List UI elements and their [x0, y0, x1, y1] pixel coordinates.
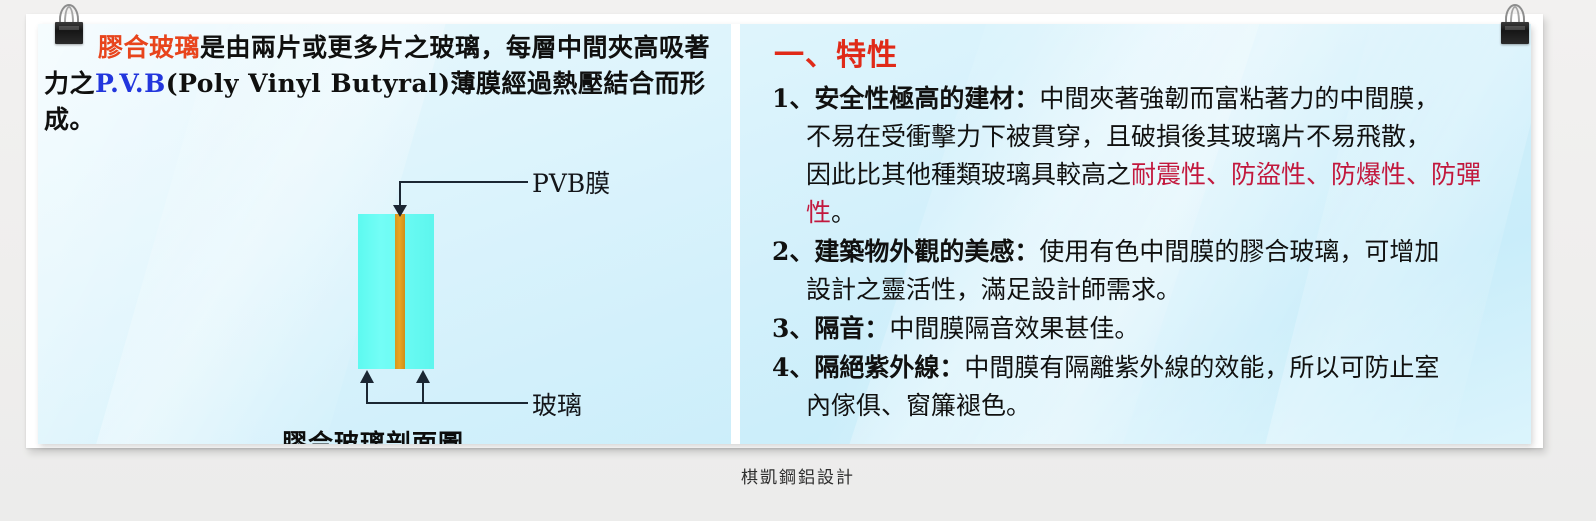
slide-content-area: 膠合玻璃是由兩片或更多片之玻璃，每層中間夾高吸著力之P.V.B(Poly Vin… — [38, 24, 1531, 444]
list-item: 1、安全性極高的建材：中間夾著強韌而富粘著力的中間膜， 不易在受衝擊力下被貫穿，… — [772, 80, 1524, 232]
column-divider — [731, 24, 740, 444]
item-1-body-a: 中間夾著強韌而富粘著力的中間膜， — [1039, 84, 1439, 113]
clip-body — [55, 22, 83, 44]
item-2-lead: 建築物外觀的美感： — [814, 237, 1039, 266]
binder-clip-left-icon — [52, 4, 86, 46]
item-1-number: 1、 — [772, 84, 814, 113]
glass-leader-vertical-left — [366, 382, 368, 404]
item-4-body-b: 內傢俱、窗簾褪色。 — [772, 387, 1524, 425]
laminated-glass-cross-section-diagram: PVB膜 玻璃 膠合玻璃剖面圖 — [38, 134, 731, 444]
item-1-body-b: 不易在受衝擊力下被貫穿，且破損後其玻璃片不易飛散， — [772, 118, 1524, 156]
item-4-number: 4、 — [772, 353, 814, 382]
clip-body — [1501, 22, 1529, 44]
item-3-number: 3、 — [772, 314, 814, 343]
list-item: 4、隔絕紫外線：中間膜有隔離紫外線的效能，所以可防止室 內傢俱、窗簾褪色。 — [772, 349, 1524, 425]
binder-clip-right-icon — [1498, 4, 1532, 46]
item-1-body-c: 因此比其他種類玻璃具較高之 — [806, 160, 1131, 189]
pvb-interlayer-band — [395, 214, 405, 369]
item-4-body-a: 中間膜有隔離紫外線的效能，所以可防止室 — [964, 353, 1439, 382]
item-1-lead: 安全性極高的建材： — [814, 84, 1039, 113]
list-item: 3、隔音：中間膜隔音效果甚佳。 — [772, 310, 1524, 348]
pvb-leader-horizontal — [400, 181, 528, 183]
characteristics-list: 1、安全性極高的建材：中間夾著強韌而富粘著力的中間膜， 不易在受衝擊力下被貫穿，… — [772, 80, 1524, 426]
item-4-lead: 隔絕紫外線： — [814, 353, 964, 382]
diagram-caption: 膠合玻璃剖面圖 — [282, 424, 464, 444]
glass-arrow-left-icon — [360, 370, 374, 383]
item-1-body-d: 。 — [831, 198, 856, 227]
list-item: 2、建築物外觀的美感：使用有色中間膜的膠合玻璃，可增加 設計之靈活性，滿足設計師… — [772, 233, 1524, 309]
item-3-lead: 隔音： — [814, 314, 889, 343]
slide-canvas: 膠合玻璃是由兩片或更多片之玻璃，每層中間夾高吸著力之P.V.B(Poly Vin… — [0, 0, 1596, 521]
section-heading: 一、特性 — [774, 30, 898, 74]
glass-leader-vertical-right — [422, 382, 424, 404]
item-3-body-a: 中間膜隔音效果甚佳。 — [889, 314, 1139, 343]
intro-term-pvb: P.V.B — [95, 69, 166, 98]
pvb-arrow-icon — [393, 205, 407, 217]
glass-arrow-right-icon — [416, 370, 430, 383]
item-2-body-b: 設計之靈活性，滿足設計師需求。 — [772, 271, 1524, 309]
glass-label: 玻璃 — [532, 386, 582, 422]
left-panel: 膠合玻璃是由兩片或更多片之玻璃，每層中間夾高吸著力之P.V.B(Poly Vin… — [38, 24, 731, 444]
pvb-label: PVB膜 — [532, 164, 610, 200]
glass-leader-horizontal — [367, 402, 528, 404]
right-panel: 一、特性 1、安全性極高的建材：中間夾著強韌而富粘著力的中間膜， 不易在受衝擊力… — [740, 24, 1531, 444]
item-2-body-a: 使用有色中間膜的膠合玻璃，可增加 — [1039, 237, 1439, 266]
footer-credit: 棋凱鋼鋁設計 — [0, 463, 1596, 488]
intro-paragraph: 膠合玻璃是由兩片或更多片之玻璃，每層中間夾高吸著力之P.V.B(Poly Vin… — [44, 30, 734, 138]
item-2-number: 2、 — [772, 237, 814, 266]
intro-term-laminated-glass: 膠合玻璃 — [98, 33, 200, 62]
